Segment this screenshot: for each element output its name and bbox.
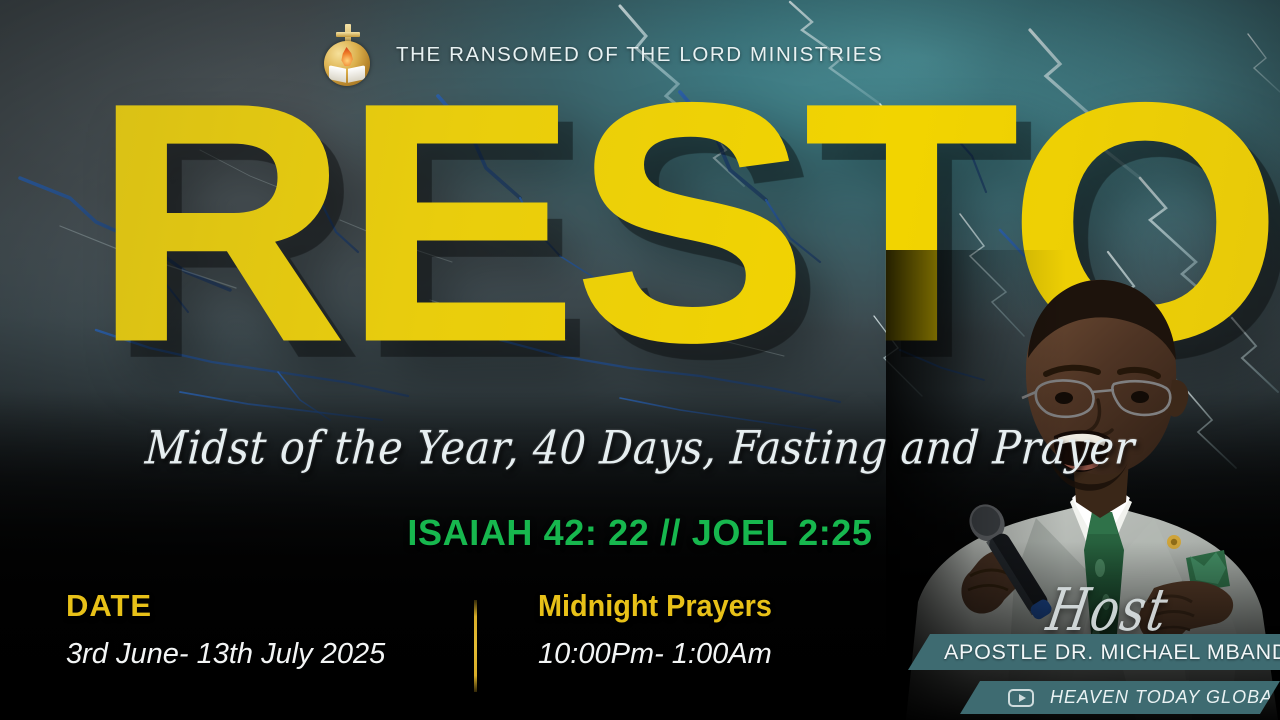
column-divider bbox=[474, 600, 477, 692]
time-value: 10:00Pm- 1:00Am bbox=[538, 638, 790, 671]
channel-name: HEAVEN TODAY GLOBAL bbox=[1050, 687, 1280, 708]
event-flyer: THE RANSOMED OF THE LORD MINISTRIES REST… bbox=[0, 0, 1280, 720]
speaker-name: APOSTLE DR. MICHAEL MBAND bbox=[944, 640, 1280, 665]
date-value: 3rd June- 13th July 2025 bbox=[66, 638, 385, 671]
speaker-name-banner: APOSTLE DR. MICHAEL MBAND bbox=[908, 634, 1280, 670]
flame-icon bbox=[338, 47, 356, 67]
date-column: DATE 3rd June- 13th July 2025 bbox=[66, 588, 385, 671]
logo-disc bbox=[324, 41, 370, 86]
event-details: DATE 3rd June- 13th July 2025 Midnight P… bbox=[0, 588, 900, 708]
time-heading: Midnight Prayers bbox=[538, 588, 772, 624]
date-heading: DATE bbox=[66, 588, 385, 624]
scripture-reference: ISAIAH 42: 22 // JOEL 2:25 bbox=[0, 512, 1280, 554]
subtitle: Midst of the Year, 40 Days, Fasting and … bbox=[0, 421, 1280, 475]
open-book-icon bbox=[329, 66, 365, 81]
ministry-logo-icon bbox=[322, 24, 374, 86]
header: THE RANSOMED OF THE LORD MINISTRIES bbox=[322, 24, 883, 86]
time-column: Midnight Prayers 10:00Pm- 1:00Am bbox=[538, 588, 790, 671]
youtube-play-icon bbox=[1008, 689, 1034, 707]
ministry-name: THE RANSOMED OF THE LORD MINISTRIES bbox=[396, 43, 883, 67]
channel-banner[interactable]: HEAVEN TODAY GLOBAL bbox=[960, 681, 1280, 714]
